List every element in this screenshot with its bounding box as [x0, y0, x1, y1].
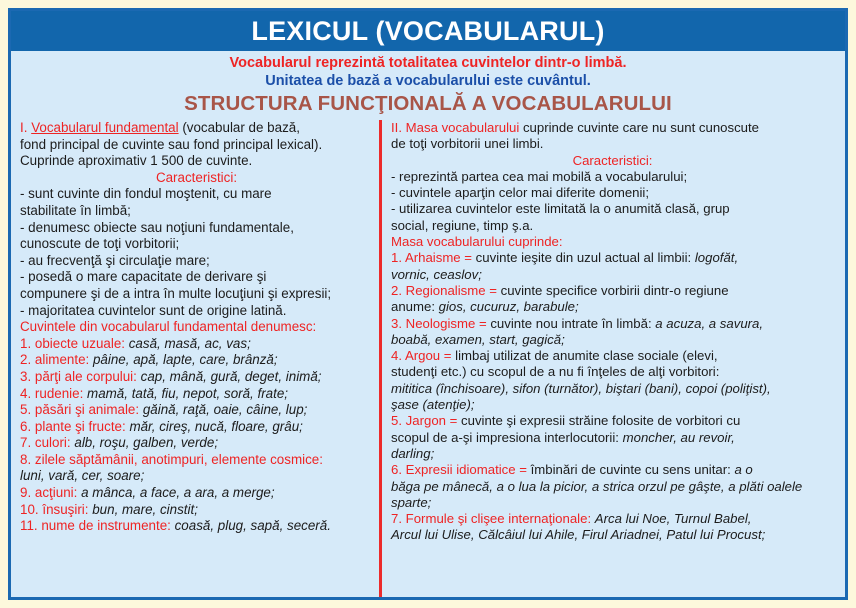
list-item-cont: anume: gios, cucuruz, barabule;	[391, 299, 834, 315]
list-item-number: 1.	[20, 336, 31, 351]
list-item: 4. Argou = limbaj utilizat de anumite cl…	[391, 348, 834, 364]
list-item-examples-cont: vornic, ceaslov;	[391, 267, 834, 283]
page-title: LEXICUL (VOCABULARUL)	[251, 16, 604, 47]
list-item-cont-plain: scopul de a-şi impresiona interlocutorii…	[391, 430, 623, 445]
list-item-examples-cont: boabă, examen, start, gagică;	[391, 332, 834, 348]
title-bar: LEXICUL (VOCABULARUL)	[11, 11, 845, 51]
list-item: 1. Arhaisme = cuvinte ieşite din uzul ac…	[391, 250, 834, 266]
right-characteristic-line: - utilizarea cuvintelor este limitată la…	[391, 201, 834, 217]
list-item: 4. rudenie: mamă, tată, fiu, nepot, soră…	[20, 386, 373, 403]
list-item-examples: a o	[734, 462, 752, 477]
right-characteristic-line: - cuvintele aparţin celor mai diferite d…	[391, 185, 834, 201]
list-item-number: 9.	[20, 485, 31, 500]
list-item: 5. Jargon = cuvinte şi expresii străine …	[391, 413, 834, 429]
list-item-label: păsări şi animale:	[35, 402, 139, 417]
list-item: 2. alimente: pâine, apă, lapte, care, br…	[20, 352, 373, 369]
list-item-examples: Arca lui Noe, Turnul Babel,	[595, 511, 752, 526]
right-characteristics-label: Caracteristici:	[391, 153, 834, 169]
list-item-examples: alb, roşu, galben, verde;	[74, 435, 218, 450]
subtitle-definition: Vocabularul reprezintă totalitatea cuvin…	[11, 54, 845, 72]
list-item-examples-cont: mititica (închisoare), sifon (turnător),…	[391, 381, 834, 397]
list-item-cont-plain: anume:	[391, 299, 439, 314]
list-item-examples-cont: sparte;	[391, 495, 834, 511]
list-item: 2. Regionalisme = cuvinte specifice vorb…	[391, 283, 834, 299]
list-item-number: 6.	[391, 462, 402, 477]
list-item: 8. zilele săptămânii, anotimpuri, elemen…	[20, 452, 373, 469]
list-item-examples: bun, mare, cinstit;	[92, 502, 198, 517]
left-characteristic-line: - posedă o mare capacitate de derivare ş…	[20, 269, 373, 286]
list-item-label: rudenie:	[35, 386, 83, 401]
right-column: II. Masa vocabularului cuprinde cuvinte …	[379, 120, 842, 600]
list-item-number: 5.	[391, 413, 402, 428]
list-item-examples: moncher, au revoir,	[623, 430, 735, 445]
right-heading-term: Masa vocabularului	[406, 120, 520, 135]
right-heading-rest: cuprinde cuvinte care nu sunt cunoscute	[519, 120, 759, 135]
right-characteristic-line: social, regiune, timp ş.a.	[391, 218, 834, 234]
list-item-number: 4.	[20, 386, 31, 401]
list-item-definition: limbaj utilizat de anumite clase sociale…	[452, 348, 718, 363]
list-item-examples: casă, masă, ac, vas;	[129, 336, 251, 351]
list-item-number: 1.	[391, 250, 402, 265]
left-characteristic-line: - sunt cuvinte din fondul moştenit, cu m…	[20, 186, 373, 203]
right-list-label: Masa vocabularului cuprinde:	[391, 234, 834, 250]
list-item-label: zilele săptămânii, anotimpuri, elemente …	[35, 452, 323, 467]
list-item-term: Formule şi clişee internaţionale:	[406, 511, 591, 526]
left-characteristic-line: cunoscute de toţi vorbitorii;	[20, 236, 373, 253]
list-item-number: 8.	[20, 452, 31, 467]
list-item-examples: pâine, apă, lapte, care, brânză;	[93, 352, 278, 367]
list-item-label: părţi ale corpului:	[35, 369, 137, 384]
list-item-number: 2.	[20, 352, 31, 367]
list-item-term: Neologisme =	[406, 316, 487, 331]
list-item: 3. părţi ale corpului: cap, mână, gură, …	[20, 369, 373, 386]
list-item: 6. plante şi fructe: măr, cireş, nucă, f…	[20, 419, 373, 436]
right-heading: II. Masa vocabularului cuprinde cuvinte …	[391, 120, 834, 136]
left-characteristic-line: compunere şi de a intra în multe locuţiu…	[20, 286, 373, 303]
right-characteristic-line: - reprezintă partea cea mai mobilă a voc…	[391, 169, 834, 185]
poster-panel: LEXICUL (VOCABULARUL) Vocabularul reprez…	[8, 8, 848, 600]
left-list-label: Cuvintele din vocabularul fundamental de…	[20, 319, 373, 336]
content-columns: I. Vocabularul fundamental (vocabular de…	[11, 116, 845, 600]
list-item-label: însuşiri:	[42, 502, 88, 517]
list-item-examples: logofăt,	[695, 250, 738, 265]
left-intro-line2: fond principal de cuvinte sau fond princ…	[20, 137, 373, 154]
section-heading: STRUCTURA FUNCŢIONALĂ A VOCABULARULUI	[11, 91, 845, 116]
list-item-number: 11.	[20, 518, 38, 533]
left-heading-rest: (vocabular de bază,	[179, 120, 300, 135]
left-characteristic-line: stabilitate în limbă;	[20, 203, 373, 220]
left-characteristic-line: - au frecvenţă şi circulaţie mare;	[20, 253, 373, 270]
list-item-examples-cont: Arcul lui Ulise, Călcâiul lui Ahile, Fir…	[391, 527, 834, 543]
list-item-definition: îmbinări de cuvinte cu sens unitar:	[527, 462, 734, 477]
list-item-examples: cap, mână, gură, deget, inimă;	[141, 369, 322, 384]
list-item-term: Expresii idiomatice =	[406, 462, 527, 477]
list-item-term: Jargon =	[406, 413, 458, 428]
list-item-label: acţiuni:	[35, 485, 77, 500]
list-item-number: 4.	[391, 348, 402, 363]
list-item-examples: gios, cucuruz, barabule;	[439, 299, 579, 314]
list-item-term: Regionalisme =	[406, 283, 497, 298]
list-item-examples: luni, vară, cer, soare;	[20, 468, 373, 485]
list-item-definition: cuvinte şi expresii străine folosite de …	[457, 413, 740, 428]
list-item-examples: a acuza, a savura,	[655, 316, 763, 331]
left-characteristics-label: Caracteristici:	[20, 170, 373, 187]
list-item-examples: mamă, tată, fiu, nepot, soră, frate;	[87, 386, 288, 401]
list-item: 10. însuşiri: bun, mare, cinstit;	[20, 502, 373, 519]
right-intro-line2: de toţi vorbitorii unei limbi.	[391, 136, 834, 152]
left-characteristic-line: - denumesc obiecte sau noţiuni fundament…	[20, 220, 373, 237]
list-item-number: 7.	[391, 511, 402, 526]
list-item-term: Arhaisme =	[405, 250, 472, 265]
left-column: I. Vocabularul fundamental (vocabular de…	[11, 120, 382, 600]
list-item-label: alimente:	[35, 352, 89, 367]
list-item-number: 5.	[20, 402, 31, 417]
list-item-number: 7.	[20, 435, 31, 450]
subtitle-unit: Unitatea de bază a vocabularului este cu…	[11, 72, 845, 91]
list-item-examples: găină, raţă, oaie, câine, lup;	[143, 402, 308, 417]
list-item-examples-cont: darling;	[391, 446, 834, 462]
list-item-definition: cuvinte nou intrate în limbă:	[487, 316, 656, 331]
left-heading-term: Vocabularul fundamental	[31, 120, 178, 135]
list-item-examples-cont: băga pe mânecă, a o lua la picior, a str…	[391, 479, 834, 495]
list-item-label: nume de instrumente:	[41, 518, 171, 533]
list-item-examples-cont: şase (atenţie);	[391, 397, 834, 413]
list-item: 7. culori: alb, roşu, galben, verde;	[20, 435, 373, 452]
list-item-number: 3.	[20, 369, 31, 384]
left-heading-marker: I.	[20, 120, 27, 135]
list-item-examples: măr, cireş, nucă, floare, grâu;	[129, 419, 302, 434]
list-item: 7. Formule şi clişee internaţionale: Arc…	[391, 511, 834, 527]
list-item-number: 6.	[20, 419, 31, 434]
list-item-cont: studenţi etc.) cu scopul de a nu fi înţe…	[391, 364, 834, 380]
left-characteristic-line: - majoritatea cuvintelor sunt de origine…	[20, 303, 373, 320]
list-item: 5. păsări şi animale: găină, raţă, oaie,…	[20, 402, 373, 419]
subtitle-block: Vocabularul reprezintă totalitatea cuvin…	[11, 51, 845, 116]
list-item: 9. acţiuni: a mânca, a face, a ara, a me…	[20, 485, 373, 502]
list-item: 6. Expresii idiomatice = îmbinări de cuv…	[391, 462, 834, 478]
list-item: 1. obiecte uzuale: casă, masă, ac, vas;	[20, 336, 373, 353]
list-item-definition: cuvinte specifice vorbirii dintr-o regiu…	[497, 283, 729, 298]
list-item-number: 2.	[391, 283, 402, 298]
left-intro-line3: Cuprinde aproximativ 1 500 de cuvinte.	[20, 153, 373, 170]
list-item-definition: cuvinte ieşite din uzul actual al limbii…	[472, 250, 695, 265]
list-item: 3. Neologisme = cuvinte nou intrate în l…	[391, 316, 834, 332]
list-item-examples: a mânca, a face, a ara, a merge;	[81, 485, 275, 500]
list-item-number: 3.	[391, 316, 402, 331]
left-heading: I. Vocabularul fundamental (vocabular de…	[20, 120, 373, 137]
list-item-examples: coasă, plug, sapă, seceră.	[175, 518, 331, 533]
list-item-term: Argou =	[405, 348, 452, 363]
list-item-label: plante şi fructe:	[35, 419, 126, 434]
list-item: 11. nume de instrumente: coasă, plug, sa…	[20, 518, 373, 535]
list-item-cont: scopul de a-şi impresiona interlocutorii…	[391, 430, 834, 446]
right-heading-marker: II.	[391, 120, 402, 135]
list-item-label: culori:	[35, 435, 71, 450]
list-item-label: obiecte uzuale:	[35, 336, 125, 351]
list-item-number: 10.	[20, 502, 39, 517]
